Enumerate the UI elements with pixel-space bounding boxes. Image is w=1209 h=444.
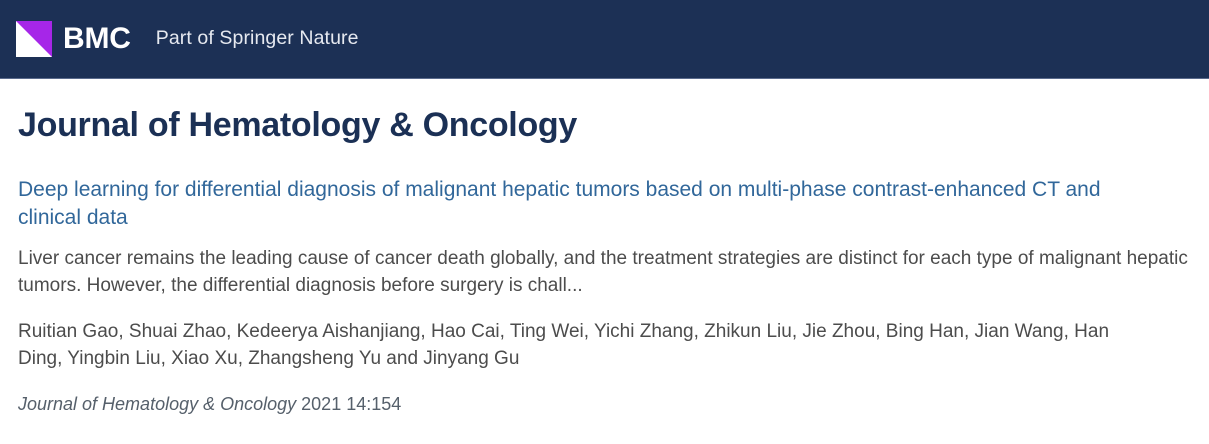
article-result-item: Deep learning for differential diagnosis… [18,176,1191,417]
citation-reference: 2021 14:154 [296,394,401,414]
bmc-logo-link[interactable]: BMC [16,21,131,57]
citation-journal-name: Journal of Hematology & Oncology [18,394,296,414]
article-citation: Journal of Hematology & Oncology 2021 14… [18,392,1191,417]
brand-header-bar: BMC Part of Springer Nature [0,0,1209,79]
article-abstract-snippet: Liver cancer remains the leading cause o… [18,246,1191,300]
bmc-wordmark: BMC [63,24,131,54]
springer-nature-tagline: Part of Springer Nature [156,29,359,49]
article-authors-list: Ruitian Gao, Shuai Zhao, Kedeerya Aishan… [18,319,1148,373]
article-title-link[interactable]: Deep learning for differential diagnosis… [18,176,1128,232]
journal-title: Journal of Hematology & Oncology [18,105,1191,146]
page-content: Journal of Hematology & Oncology Deep le… [0,105,1209,417]
bmc-square-logo-icon [16,21,52,57]
